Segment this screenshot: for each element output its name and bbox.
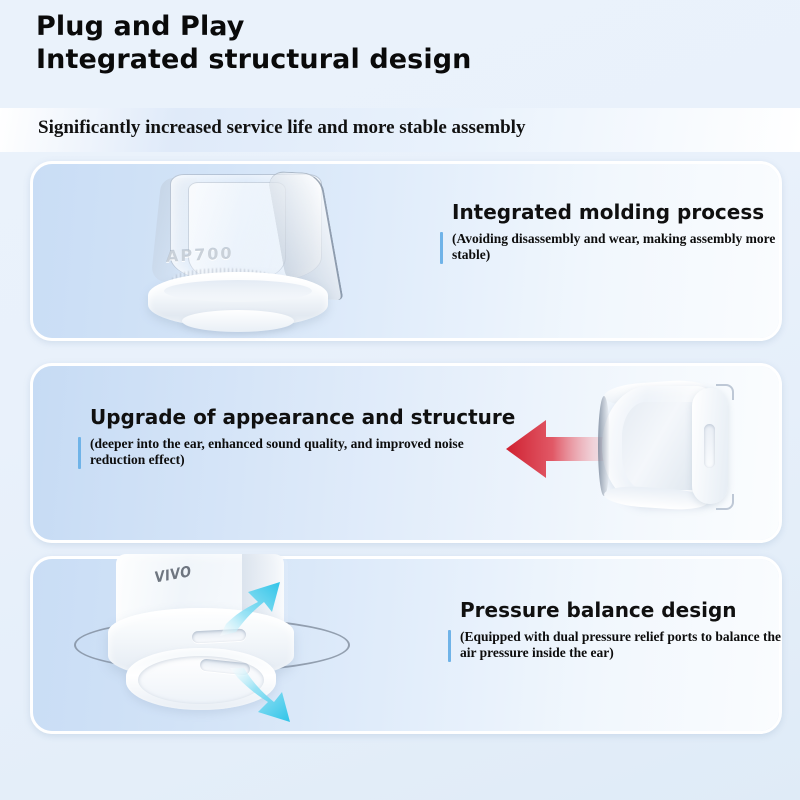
- headline-line-2: Integrated structural design: [36, 43, 776, 76]
- card-3-textblock: Pressure balance design (Equipped with d…: [448, 598, 793, 662]
- subtitle-text: Significantly increased service life and…: [38, 117, 525, 139]
- nozzle-left-edge: [598, 396, 610, 496]
- card-2-description-row: (deeper into the ear, enhanced sound qua…: [78, 436, 508, 469]
- card-1-description: (Avoiding disassembly and wear, making a…: [452, 231, 790, 263]
- card-3-description-row: (Equipped with dual pressure relief port…: [448, 629, 793, 662]
- accent-bar-icon: [448, 630, 451, 662]
- cyan-airflow-arrow-down-icon: [228, 664, 294, 726]
- card-1-textblock: Integrated molding process (Avoiding dis…: [440, 200, 790, 264]
- eartip-base-foot: [182, 310, 294, 332]
- card-3-heading: Pressure balance design: [460, 598, 793, 622]
- accent-bar-icon: [78, 437, 81, 469]
- nozzle-clip-bottom: [716, 494, 734, 510]
- red-left-arrow-icon: [506, 418, 610, 480]
- page-header: Plug and Play Integrated structural desi…: [36, 10, 776, 76]
- subtitle-band: Significantly increased service life and…: [0, 108, 800, 152]
- cyan-airflow-arrow-up-icon: [218, 578, 284, 640]
- nozzle-inner-cavity: [622, 402, 700, 490]
- product-image-eartip: AP700: [148, 168, 348, 338]
- card-2-textblock: Upgrade of appearance and structure (dee…: [78, 405, 508, 469]
- nozzle-clip-top: [716, 384, 734, 400]
- product-image-nozzle: [596, 378, 756, 514]
- card-1-description-row: (Avoiding disassembly and wear, making a…: [440, 231, 790, 264]
- nozzle-vent-slot: [704, 424, 715, 468]
- accent-bar-icon: [440, 232, 443, 264]
- card-3-description: (Equipped with dual pressure relief port…: [460, 629, 793, 661]
- eartip-base-lip: [164, 280, 312, 302]
- card-2-heading: Upgrade of appearance and structure: [90, 405, 508, 429]
- card-2-description: (deeper into the ear, enhanced sound qua…: [90, 436, 508, 468]
- card-1-heading: Integrated molding process: [452, 200, 790, 224]
- headline-line-1: Plug and Play: [36, 10, 776, 43]
